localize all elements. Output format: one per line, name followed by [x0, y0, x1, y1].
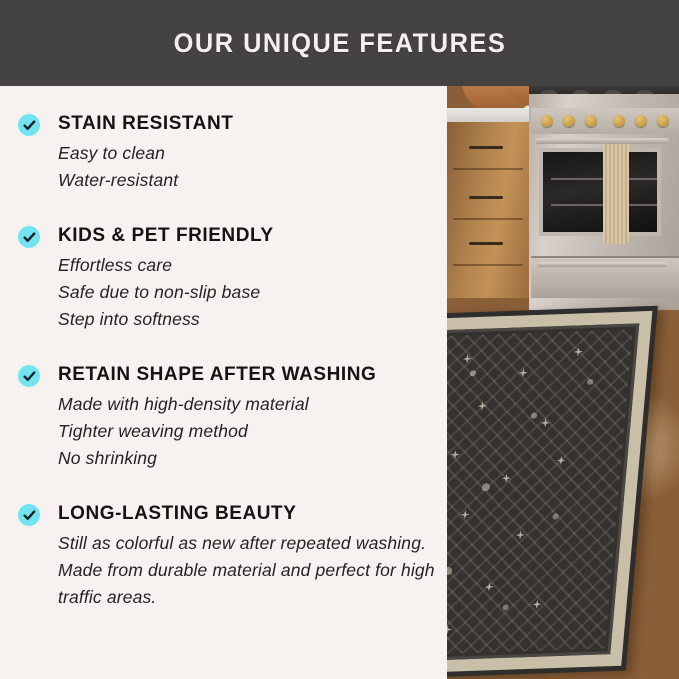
drawer-pull [469, 196, 503, 199]
feature-line: Safe due to non-slip base [58, 279, 437, 306]
drawer-divider [453, 168, 523, 170]
feature-line: No shrinking [58, 445, 437, 472]
brass-knob [613, 115, 625, 127]
content-area: STAIN RESISTANT Easy to clean Water-resi… [0, 86, 679, 679]
feature-item: RETAIN SHAPE AFTER WASHING Made with hig… [18, 362, 437, 472]
feature-line: Easy to clean [58, 140, 437, 167]
feature-line: Effortless care [58, 252, 437, 279]
drawer-divider [453, 218, 523, 220]
drawer-pull [469, 242, 503, 245]
feature-line-list: Easy to clean Water-resistant [58, 140, 437, 194]
rug-motif [556, 456, 566, 465]
oven-window [539, 148, 661, 236]
brass-knob [541, 115, 553, 127]
wood-cabinets [447, 122, 529, 298]
header-bar: OUR UNIQUE FEATURES [0, 0, 679, 86]
check-circle-icon [18, 226, 40, 248]
rug-motif [532, 600, 542, 609]
rug-motif [540, 418, 550, 427]
feature-item: STAIN RESISTANT Easy to clean Water-resi… [18, 111, 437, 194]
brass-knob [563, 115, 575, 127]
feature-title: STAIN RESISTANT [58, 111, 437, 136]
features-panel: STAIN RESISTANT Easy to clean Water-resi… [0, 86, 447, 679]
brass-knob [635, 115, 647, 127]
feature-line: Tighter weaving method [58, 418, 437, 445]
rug-motif [518, 368, 528, 377]
drawer-divider [453, 264, 523, 266]
brass-knob [585, 115, 597, 127]
rug-field-pattern [447, 330, 633, 655]
oven-door-handle [535, 138, 669, 144]
feature-title: LONG-LASTING BEAUTY [58, 501, 437, 526]
rug-motif [515, 530, 525, 539]
rug-motif [477, 401, 487, 410]
check-circle-icon [18, 504, 40, 526]
feature-line: Made with high-density material [58, 391, 437, 418]
kitchen-runner-rug-photo [447, 86, 679, 679]
check-circle-icon [18, 365, 40, 387]
rug-motif [484, 582, 494, 591]
rug-border [447, 311, 652, 674]
feature-title: KIDS & PET FRIENDLY [58, 223, 437, 248]
feature-item: LONG-LASTING BEAUTY Still as colorful as… [18, 501, 437, 611]
rug-motif [462, 354, 472, 363]
warming-drawer-handle [537, 262, 667, 267]
feature-paragraph: Still as colorful as new after repeated … [58, 530, 448, 611]
drawer-pull [469, 146, 503, 149]
rug-motif [450, 450, 460, 459]
rug-motif [573, 347, 583, 356]
feature-title: RETAIN SHAPE AFTER WASHING [58, 362, 437, 387]
feature-line: Water-resistant [58, 167, 437, 194]
brass-knob [657, 115, 669, 127]
rug-motif [460, 510, 470, 519]
feature-line: Step into softness [58, 306, 437, 333]
rug-motif [447, 625, 452, 634]
feature-line-list: Effortless care Safe due to non-slip bas… [58, 252, 437, 333]
feature-infographic-page: OUR UNIQUE FEATURES STAIN RESISTANT Easy… [0, 0, 679, 679]
rug-inner-border [447, 323, 639, 661]
feature-line-list: Made with high-density material Tighter … [58, 391, 437, 472]
rug-motif [501, 474, 511, 483]
charcoal-persian-runner-rug [447, 306, 658, 679]
feature-item: KIDS & PET FRIENDLY Effortless care Safe… [18, 223, 437, 333]
page-title: OUR UNIQUE FEATURES [173, 28, 506, 59]
check-circle-icon [18, 114, 40, 136]
range-control-panel [531, 108, 679, 134]
linen-towel [603, 144, 629, 244]
